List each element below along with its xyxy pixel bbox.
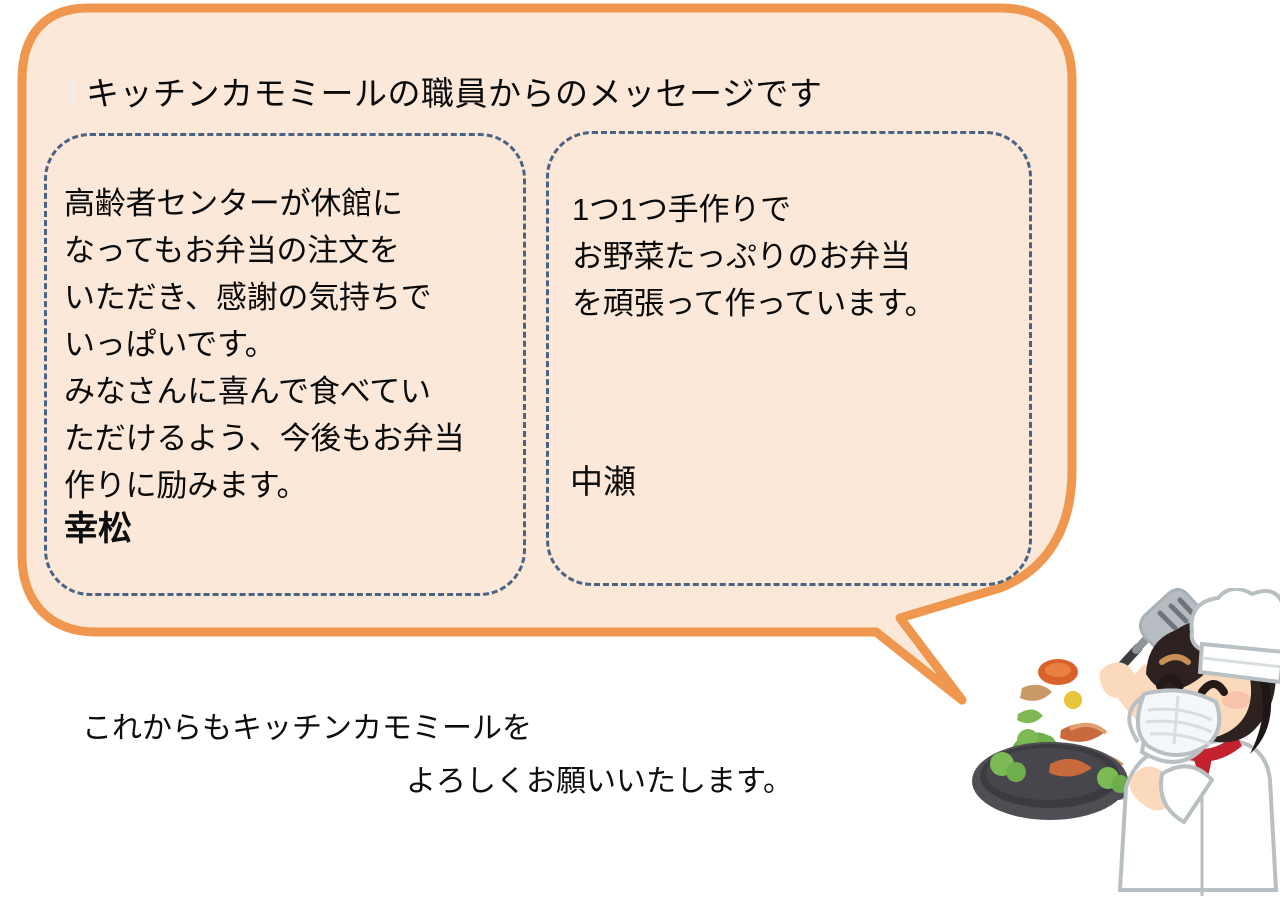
message-note-left-signature: 幸松 <box>64 508 132 550</box>
corn-icon <box>1064 691 1082 709</box>
closing-text-line-2: よろしくお願いいたします。 <box>406 762 793 802</box>
page-title: キッチンカモミールの職員からのメッセージです <box>86 74 822 114</box>
potato-icon <box>1020 685 1052 701</box>
text-caret-artifact <box>72 78 75 104</box>
green-pepper-icon <box>1017 709 1043 723</box>
closing-text-line-1: これからもキッチンカモミールを <box>82 709 532 749</box>
message-note-right-body: 1つ1つ手作りで お野菜たっぷりのお弁当 を頑張って作っています。 <box>572 186 935 327</box>
chef-hat-icon <box>1192 589 1280 682</box>
message-note-right-signature: 中瀬 <box>570 461 636 503</box>
female-chef-cooking-illustration <box>930 588 1280 905</box>
message-note-left-body: 高齢者センターが休館に なってもお弁当の注文を いただき、感謝の気持ちで いっぱ… <box>64 180 464 509</box>
